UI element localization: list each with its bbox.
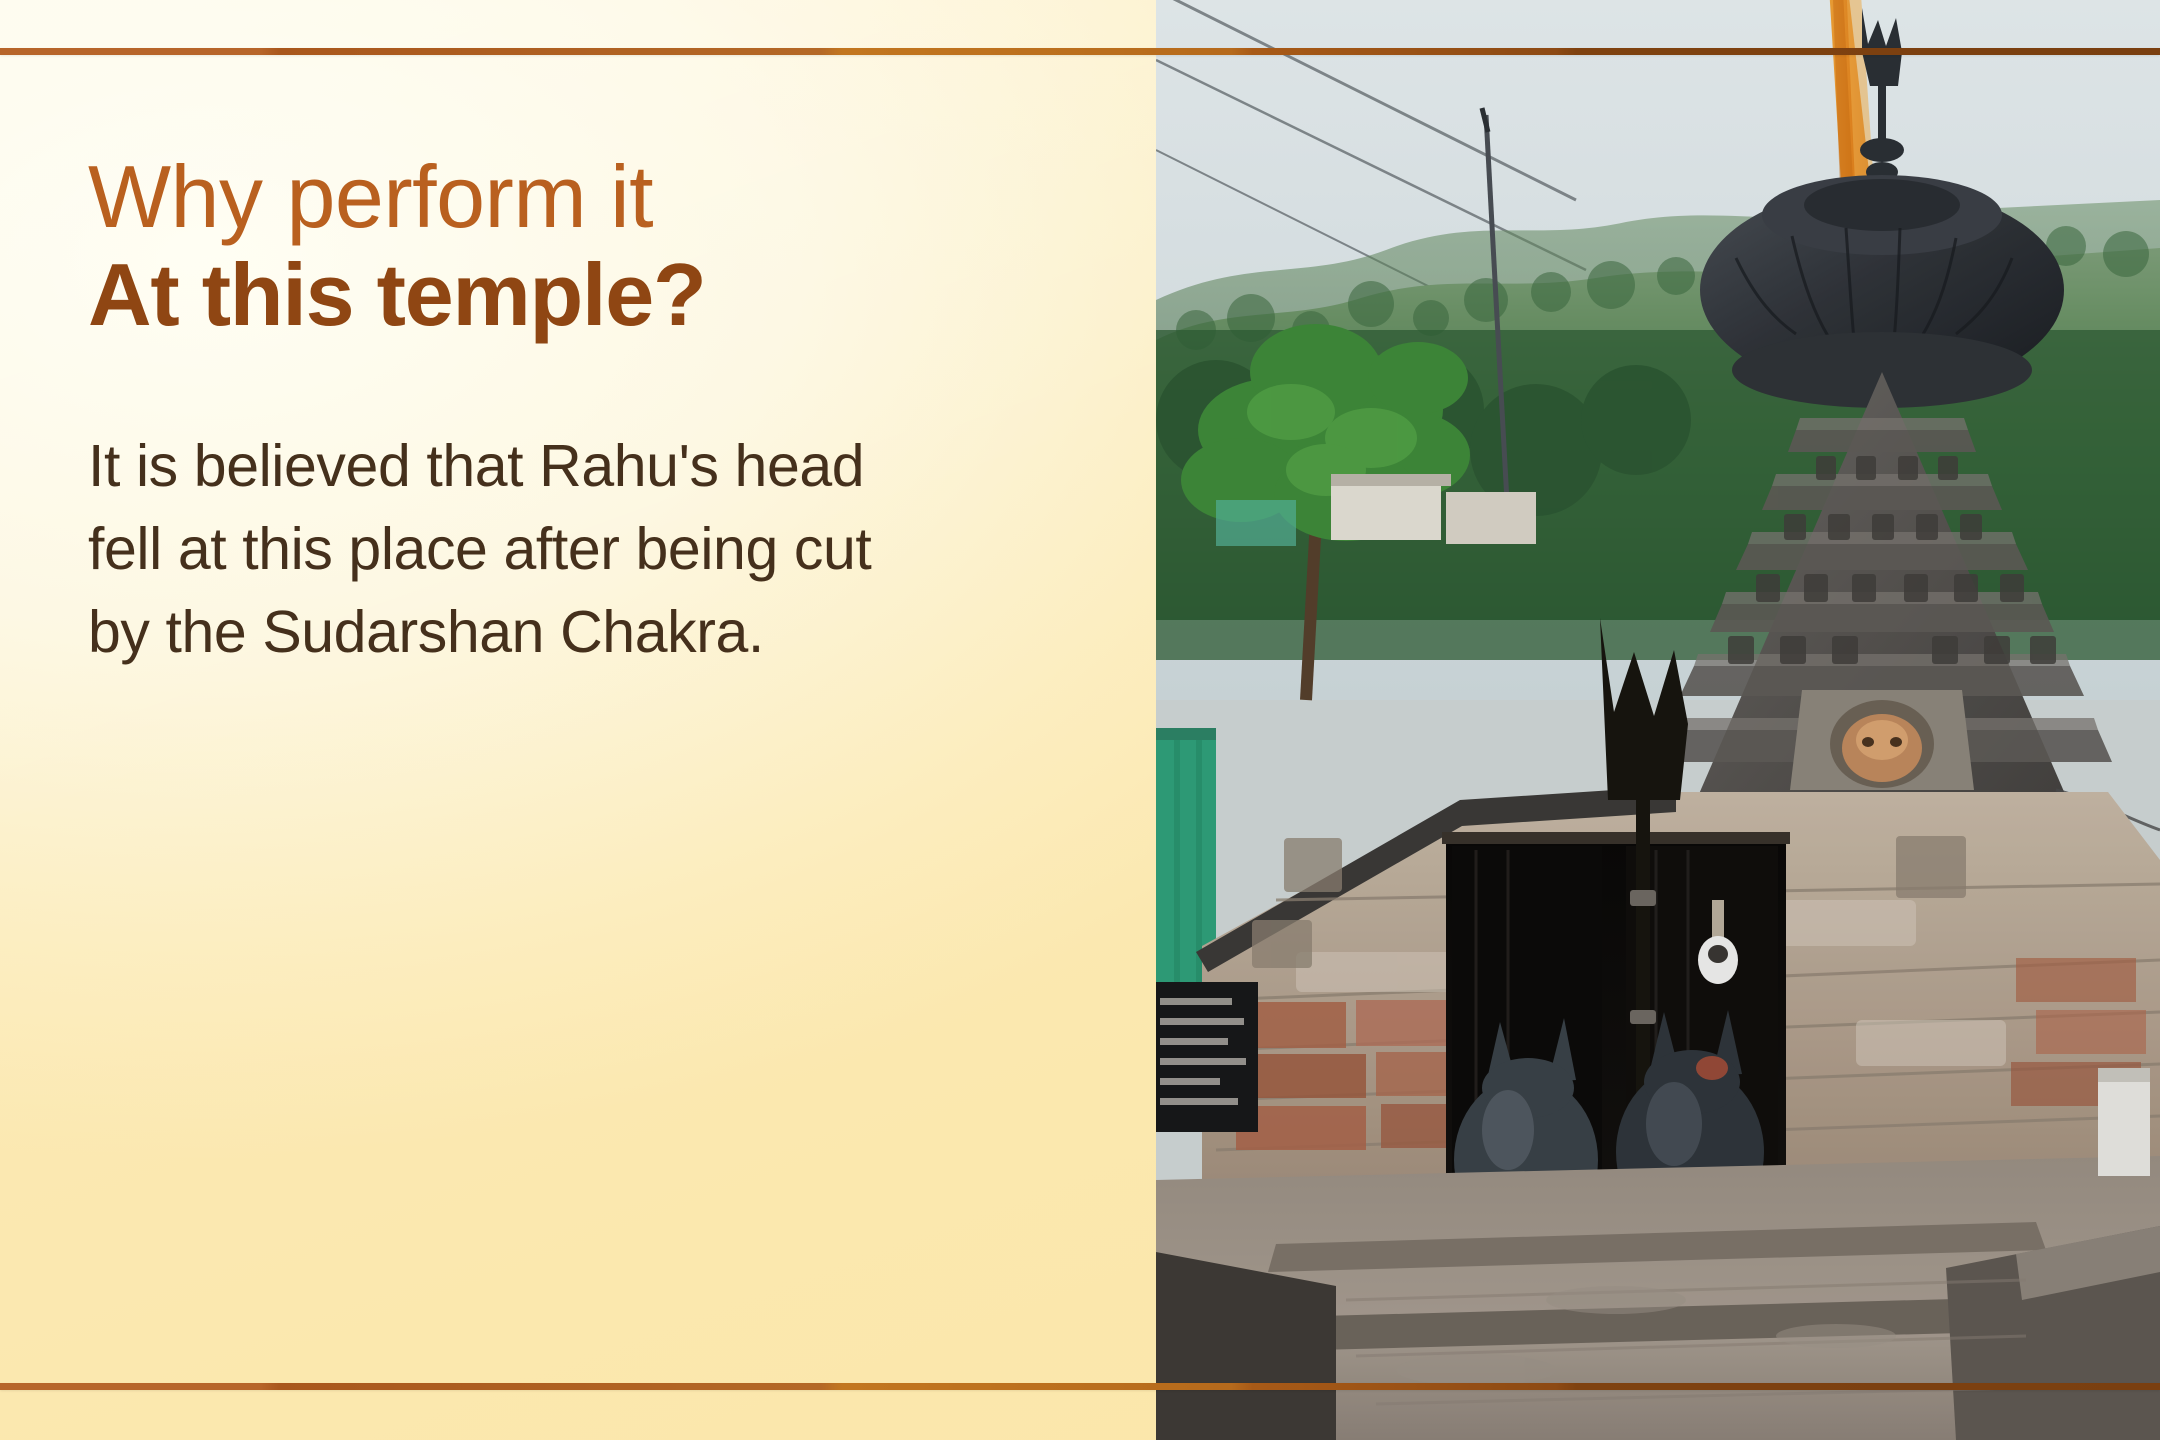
headline-line-1: Why perform it bbox=[88, 150, 1088, 243]
temple-photo bbox=[1156, 0, 2160, 1440]
headline-line-2: At this temple? bbox=[88, 243, 1088, 347]
bottom-divider-rule bbox=[0, 1383, 2160, 1390]
temple-photo-illustration bbox=[1156, 0, 2160, 1440]
body-paragraph: It is believed that Rahu's head fell at … bbox=[88, 425, 948, 675]
text-block: Why perform it At this temple? It is bel… bbox=[88, 150, 1088, 675]
top-divider-rule bbox=[0, 48, 2160, 55]
headline: Why perform it At this temple? bbox=[88, 150, 1088, 347]
text-panel: Why perform it At this temple? It is bel… bbox=[0, 0, 1156, 1440]
info-card: Why perform it At this temple? It is bel… bbox=[0, 0, 2160, 1440]
